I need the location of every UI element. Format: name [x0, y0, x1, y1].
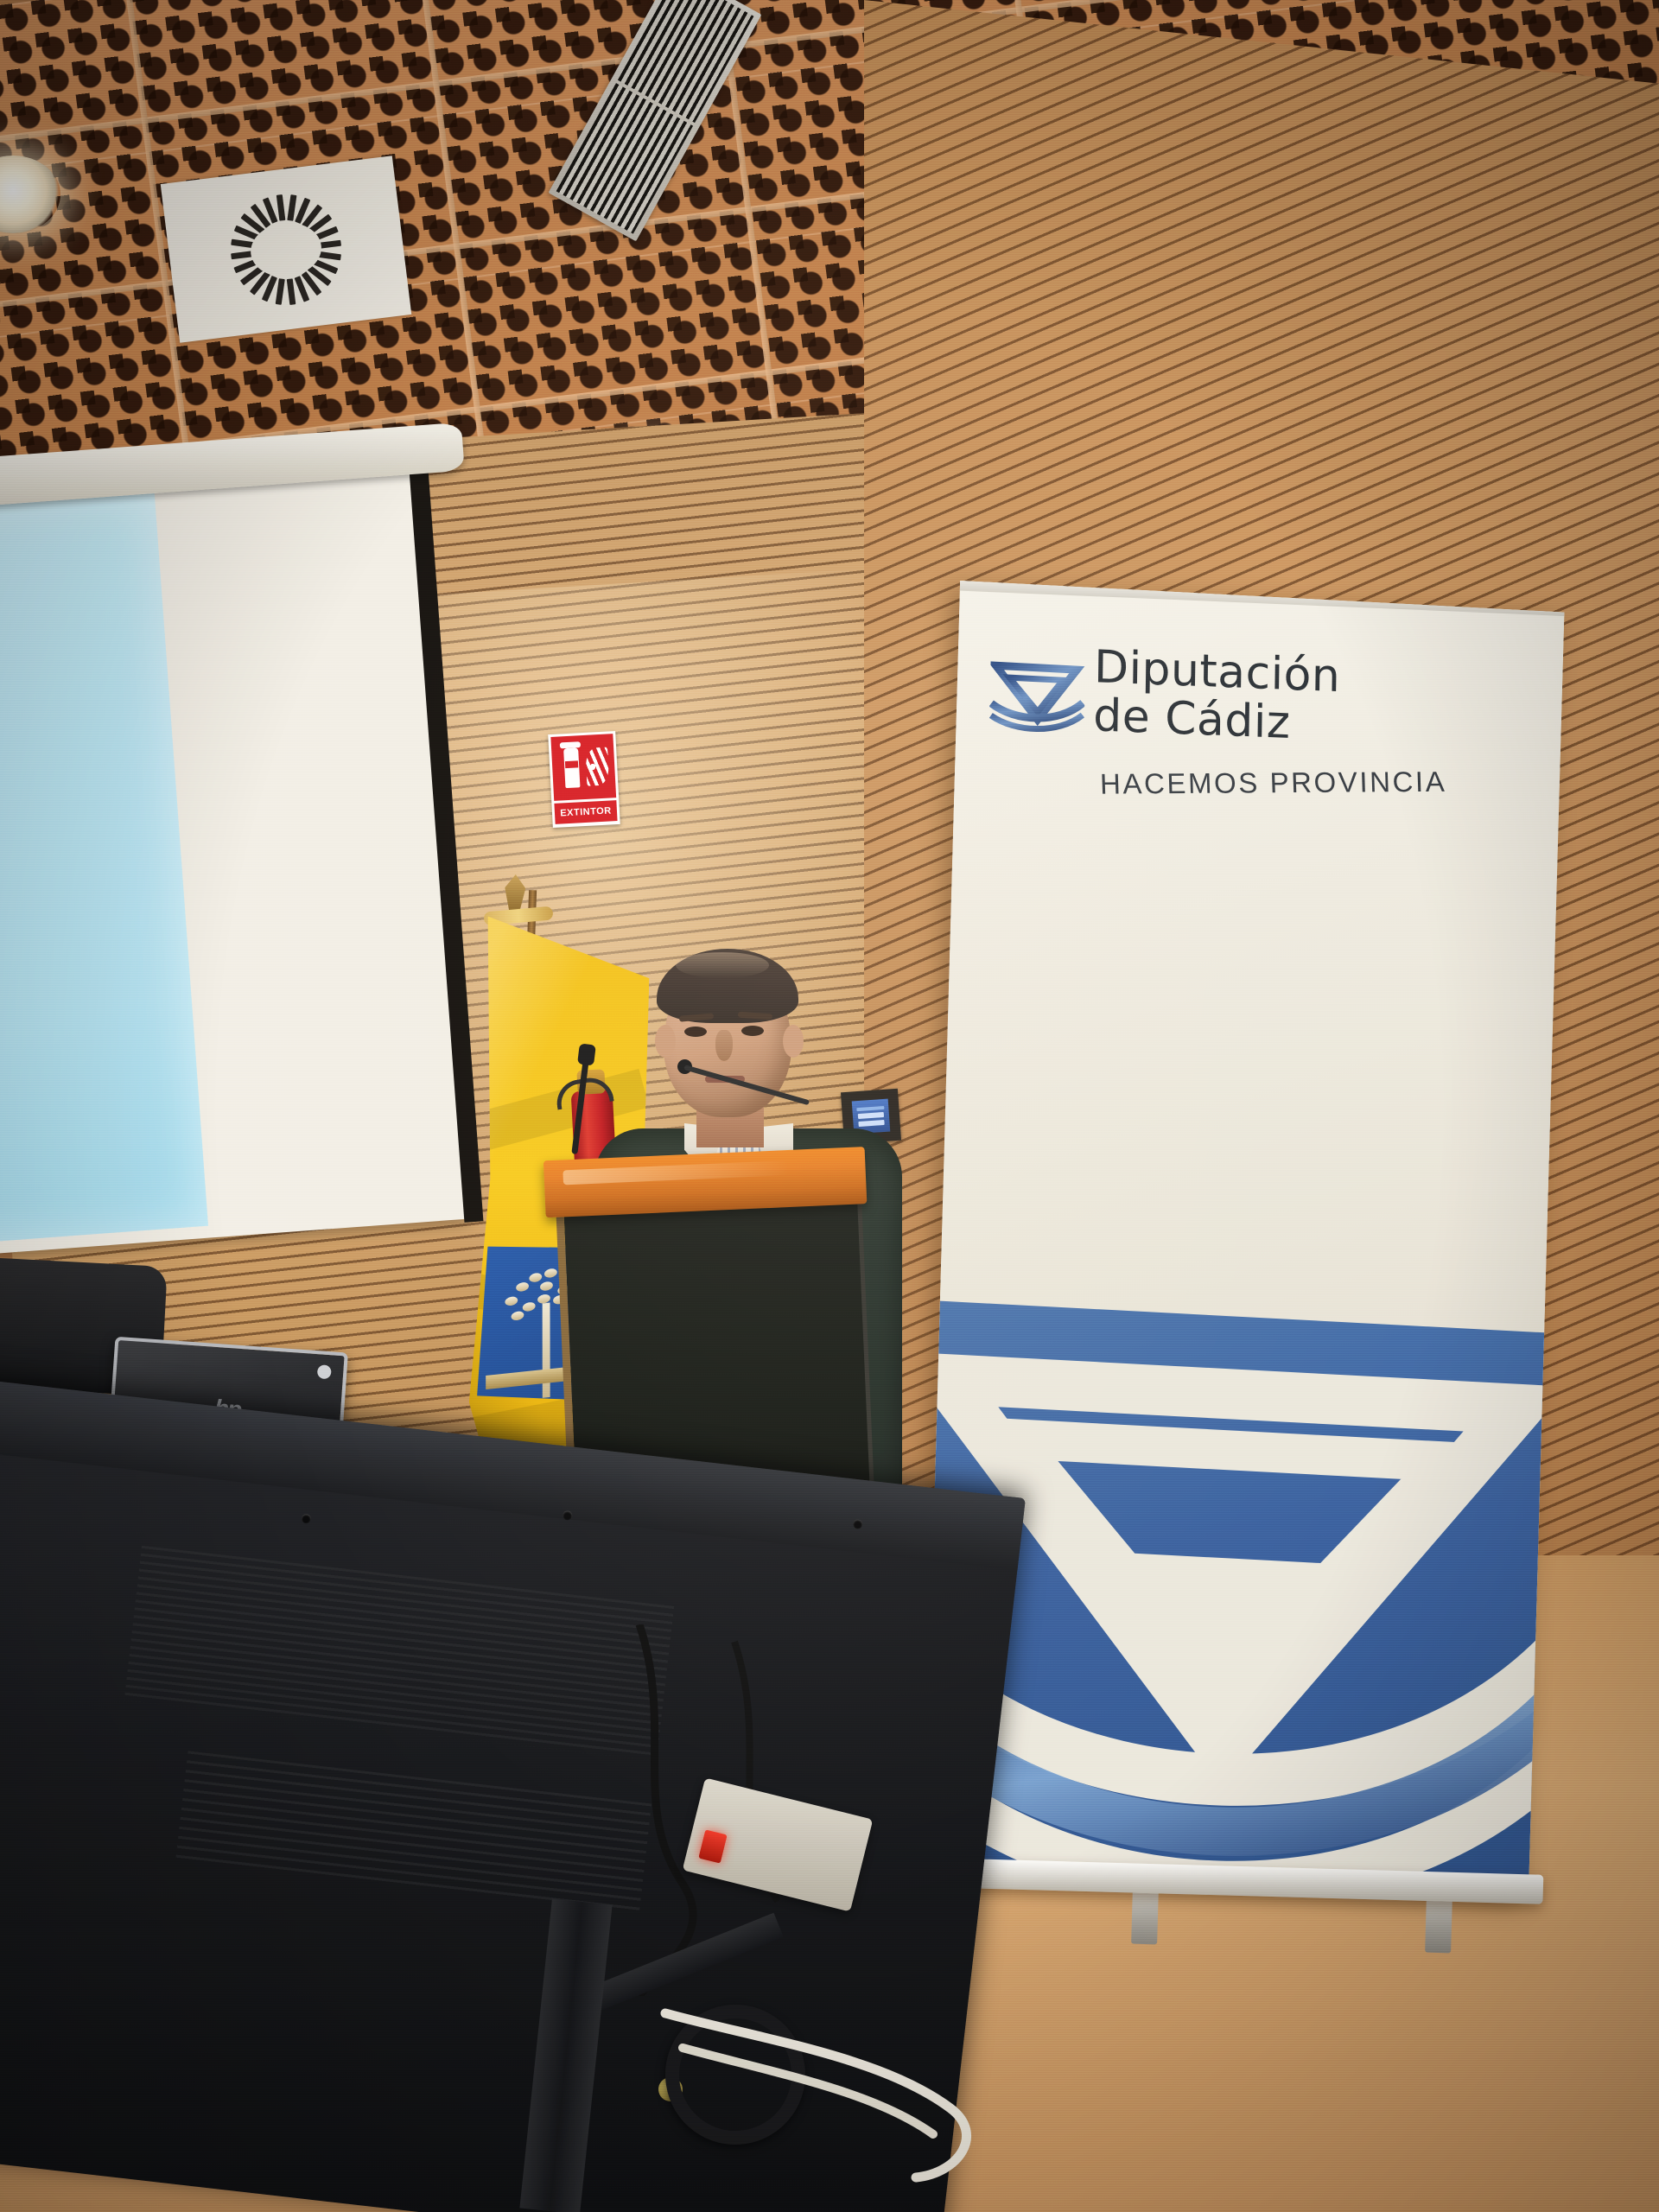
extinguisher-pictogram-icon — [550, 734, 616, 801]
speaker-ear — [783, 1025, 804, 1058]
swirl-air-diffuser-icon: 24 — [161, 156, 412, 343]
tree-leaf-icon — [505, 1296, 518, 1307]
diffuser-blade — [287, 278, 296, 305]
tree-leaf-icon — [529, 1272, 542, 1283]
speaker-ear — [655, 1025, 676, 1058]
diffuser-blade — [276, 194, 286, 221]
banner-tagline: HACEMOS PROVINCIA — [1099, 766, 1446, 801]
speaker-nose — [715, 1030, 733, 1061]
lectern-highlight — [563, 1160, 789, 1185]
projection-screen: mos : — [0, 426, 470, 1302]
diffuser-blade — [287, 194, 296, 221]
flame-icon — [585, 747, 609, 786]
speaker-hair — [657, 949, 798, 1023]
tree-leaf-icon — [511, 1311, 524, 1322]
floor-power-cable — [657, 2005, 1020, 2186]
speaker-eye — [741, 1026, 764, 1036]
photo-scene: 24 mos : EXTINTOR — [0, 0, 1659, 2212]
banner-lower-panel — [925, 1301, 1545, 1899]
laptop-badge — [317, 1364, 332, 1379]
diputacion-logo-large-icon — [925, 1301, 1545, 1899]
banner-foot — [1131, 1889, 1159, 1945]
rollup-banner: Diputación de Cádiz HACEMOS PROVINCIA — [925, 581, 1565, 1899]
fire-extinguisher-sign: EXTINTOR — [548, 731, 620, 828]
banner-foot — [1425, 1897, 1452, 1954]
diffuser-blade — [276, 278, 285, 305]
speaker-eye — [684, 1027, 707, 1037]
tree-leaf-icon — [522, 1301, 535, 1313]
tree-leaf-icon — [515, 1281, 528, 1293]
extinguisher-bottle — [563, 747, 580, 788]
tree-trunk-icon — [543, 1303, 550, 1398]
banner-organization-name: Diputación de Cádiz — [1093, 643, 1341, 749]
extinguisher-sign-label: EXTINTOR — [554, 800, 617, 824]
diputacion-logo-icon — [988, 650, 1086, 738]
